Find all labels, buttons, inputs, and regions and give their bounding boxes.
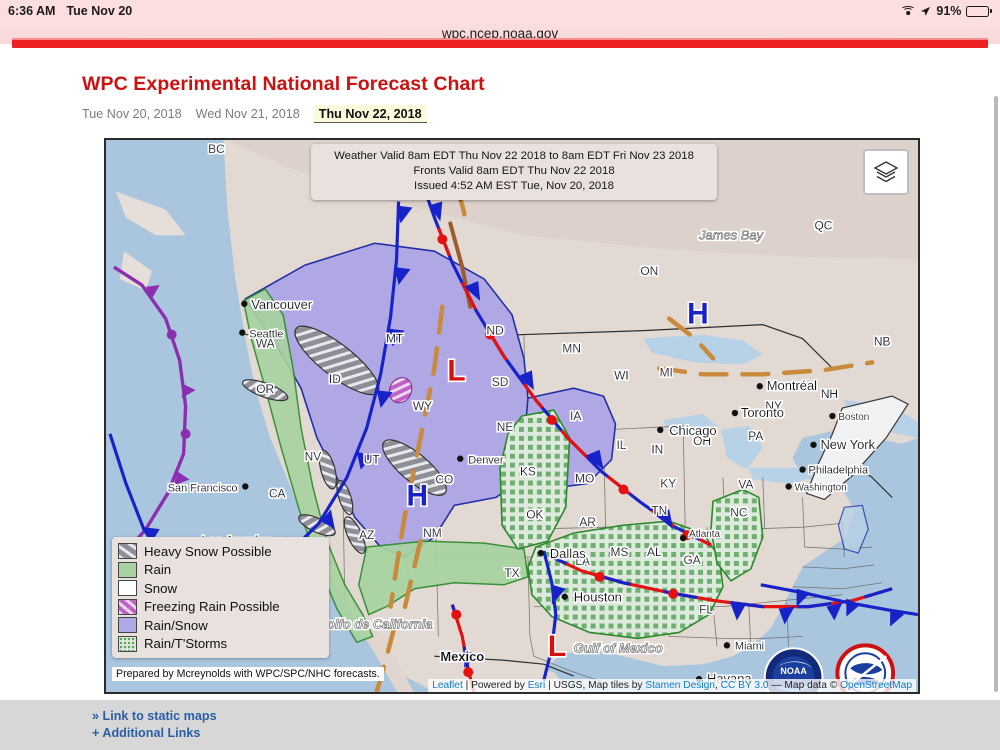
- battery-icon: [966, 6, 992, 17]
- state-label-ar: AR: [579, 515, 596, 529]
- city-label-dallas: Dallas: [550, 546, 586, 561]
- city-label-san-francisco: San Francisco: [168, 482, 238, 494]
- link-static-maps[interactable]: » Link to static maps: [92, 708, 217, 725]
- state-label-fl: FL: [699, 603, 713, 617]
- state-label-ia: IA: [570, 409, 581, 423]
- prepared-by-note: Prepared by Mcreynolds with WPC/SPC/NHC …: [112, 667, 384, 681]
- low-pressure-marker-gulf: L: [548, 630, 566, 663]
- status-bar: 6:36 AM Tue Nov 20 91%: [0, 0, 1000, 22]
- attribution-sep-2: | USGS, Map tiles by: [545, 680, 645, 691]
- state-label-wi: WI: [614, 368, 629, 382]
- page-title: WPC Experimental National Forecast Chart: [82, 73, 485, 96]
- state-label-ca: CA: [269, 486, 286, 500]
- tab-day-2[interactable]: Wed Nov 21, 2018: [196, 107, 300, 121]
- legend-row: Rain: [118, 561, 323, 580]
- wifi-icon: [901, 6, 915, 17]
- legend-label-thunderstorms: Rain/T'Storms: [144, 636, 227, 651]
- attribution-link-esri[interactable]: Esri: [528, 680, 546, 691]
- state-label-nh: NH: [821, 387, 838, 401]
- state-label-mi: MI: [660, 365, 673, 379]
- state-label-ks: KS: [520, 465, 536, 479]
- state-label-ga: GA: [684, 553, 701, 567]
- state-label-bc: BC: [208, 142, 225, 156]
- state-label-or: OR: [256, 382, 274, 396]
- state-label-al: AL: [647, 545, 662, 559]
- legend-row: Freezing Rain Possible: [118, 598, 323, 617]
- city-label-toronto: Toronto: [741, 405, 784, 420]
- attribution-link-ccby[interactable]: CC BY 3.0: [721, 680, 769, 691]
- page-scrollbar[interactable]: [994, 96, 998, 692]
- attribution-link-openstreetmap[interactable]: OpenStreetMap: [840, 680, 912, 691]
- city-label-mexico: Mexico: [440, 649, 484, 664]
- state-label-nm: NM: [423, 526, 442, 540]
- high-pressure-marker-great-lakes: H: [687, 298, 709, 331]
- forecast-map[interactable]: L H H L BC WA OR ID MT ND SD NE MN IA: [104, 138, 920, 694]
- info-line-fronts-valid: Fronts Valid 8am EDT Thu Nov 22 2018: [319, 164, 709, 179]
- map-attribution: Leaflet | Powered by Esri | USGS, Map ti…: [428, 679, 916, 692]
- attribution-sep-4: — Map data ©: [769, 680, 841, 691]
- water-label-james-bay: James Bay: [698, 227, 764, 242]
- location-arrow-icon: [920, 6, 931, 17]
- high-pressure-marker-southwest: H: [407, 479, 429, 512]
- city-label-houston: Houston: [574, 590, 622, 605]
- state-label-nb: NB: [874, 335, 891, 349]
- state-label-on: ON: [640, 264, 658, 278]
- layers-control-button[interactable]: [863, 149, 909, 195]
- status-date: Tue Nov 20: [66, 4, 132, 18]
- legend-swatch-thunderstorms: [118, 636, 137, 652]
- attribution-sep-1: | Powered by: [463, 680, 528, 691]
- legend-swatch-rain: [118, 562, 137, 578]
- red-accent-bar: [12, 40, 988, 48]
- legend-label-heavy-snow: Heavy Snow Possible: [144, 544, 272, 559]
- city-label-seattle: Seattle: [249, 329, 283, 341]
- legend-row: Rain/Snow: [118, 616, 323, 635]
- status-bar-left: 6:36 AM Tue Nov 20: [0, 4, 132, 18]
- legend-row: Rain/T'Storms: [118, 635, 323, 654]
- city-label-new-york: New York: [820, 437, 875, 452]
- state-label-ky: KY: [660, 476, 676, 490]
- city-label-montreal: Montréal: [767, 378, 817, 393]
- city-label-philadelphia: Philadelphia: [809, 465, 870, 477]
- state-label-pa: PA: [748, 429, 763, 443]
- state-label-mt: MT: [386, 332, 403, 346]
- legend-label-freezing-rain: Freezing Rain Possible: [144, 599, 280, 614]
- footer-links: » Link to static maps + Additional Links: [92, 708, 217, 742]
- legend-label-rain-snow: Rain/Snow: [144, 618, 208, 633]
- state-label-az: AZ: [359, 528, 374, 542]
- legend-swatch-heavy-snow: [118, 543, 137, 559]
- legend-swatch-freezing-rain: [118, 599, 137, 615]
- low-pressure-marker-plains: L: [447, 354, 465, 387]
- state-label-co: CO: [435, 473, 453, 487]
- state-label-qc: QC: [815, 218, 833, 232]
- state-label-nc: NC: [730, 505, 748, 519]
- validity-info-box: Weather Valid 8am EDT Thu Nov 22 2018 to…: [311, 144, 717, 200]
- date-tabs: Tue Nov 20, 2018 Wed Nov 21, 2018 Thu No…: [82, 105, 427, 123]
- page-footer: » Link to static maps + Additional Links: [0, 700, 1000, 750]
- screen: 6:36 AM Tue Nov 20 91% wpc.ncep.noaa.gov…: [0, 0, 1000, 750]
- attribution-link-stamen[interactable]: Stamen Design: [645, 680, 715, 691]
- state-label-tn: TN: [651, 503, 667, 517]
- link-additional-links[interactable]: + Additional Links: [92, 725, 217, 742]
- state-label-ut: UT: [364, 453, 380, 467]
- state-label-mo: MO: [575, 472, 594, 486]
- legend-swatch-rain-snow: [118, 617, 137, 633]
- city-label-miami: Miami: [735, 640, 764, 652]
- battery-percent-label: 91%: [936, 4, 961, 18]
- status-time: 6:36 AM: [8, 4, 55, 18]
- legend-swatch-snow: [118, 580, 137, 596]
- city-label-denver: Denver: [468, 455, 504, 467]
- tab-day-3[interactable]: Thu Nov 22, 2018: [314, 105, 427, 123]
- city-label-vancouver: Vancouver: [251, 297, 313, 312]
- attribution-link-leaflet[interactable]: Leaflet: [432, 680, 463, 691]
- svg-text:NOAA: NOAA: [780, 666, 807, 676]
- page-content: WPC Experimental National Forecast Chart…: [0, 48, 1000, 750]
- state-label-ok: OK: [526, 507, 543, 521]
- state-label-mn: MN: [562, 341, 581, 355]
- state-label-sd: SD: [492, 375, 509, 389]
- legend-row: Snow: [118, 579, 323, 598]
- state-label-ne: NE: [497, 420, 514, 434]
- water-label-golfo-de-california: Golfo de California: [317, 616, 433, 631]
- legend-label-rain: Rain: [144, 562, 171, 577]
- water-label-gulf-of-mexico: Gulf of Mexico: [574, 640, 663, 655]
- info-line-weather-valid: Weather Valid 8am EDT Thu Nov 22 2018 to…: [319, 149, 709, 164]
- tab-day-1[interactable]: Tue Nov 20, 2018: [82, 107, 182, 121]
- legend-label-snow: Snow: [144, 581, 177, 596]
- state-label-tx: TX: [504, 566, 519, 580]
- city-label-washington: Washington: [795, 482, 847, 493]
- state-label-nd: ND: [486, 324, 504, 338]
- state-label-in: IN: [651, 443, 663, 457]
- state-label-il: IL: [616, 438, 626, 452]
- info-line-issued: Issued 4:52 AM EST Tue, Nov 20, 2018: [319, 179, 709, 194]
- status-bar-right: 91%: [901, 4, 1000, 18]
- state-label-nv: NV: [305, 450, 322, 464]
- state-label-id: ID: [329, 372, 341, 386]
- city-label-chicago: Chicago: [669, 423, 716, 438]
- city-label-boston: Boston: [838, 412, 869, 423]
- map-legend: Heavy Snow Possible Rain Snow Freezing R…: [112, 537, 329, 658]
- legend-row: Heavy Snow Possible: [118, 542, 323, 561]
- city-label-atlanta: Atlanta: [689, 529, 720, 540]
- state-label-va: VA: [738, 477, 753, 491]
- state-label-wy: WY: [413, 399, 432, 413]
- layers-icon: [873, 160, 899, 184]
- state-label-ms: MS: [611, 545, 629, 559]
